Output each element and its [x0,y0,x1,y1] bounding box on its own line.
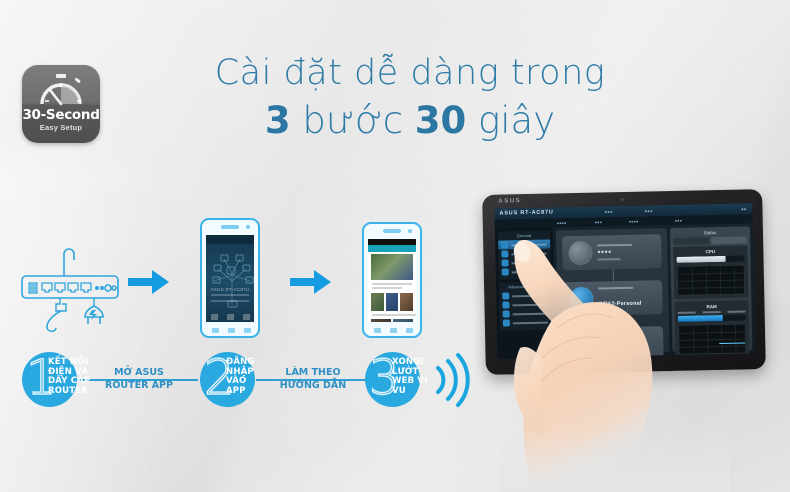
network-map-panel: ●●●● WPA2-Personal [556,228,670,354]
ram-title: RAM [677,303,745,309]
header-menu-item[interactable]: ●● [741,206,747,211]
ram-usage-bar [678,314,746,321]
subnav-item[interactable]: ●●● [675,218,682,223]
tablet-camera [621,198,624,201]
web-nav-bar [368,245,416,252]
web-thumb-row [371,293,413,311]
thirty-second-badge: 30-Second Easy Setup [22,65,100,143]
phone-nav-back [374,328,381,333]
router-status-icon [568,241,592,265]
app-status-bar [206,235,254,244]
wireless-icon [502,292,509,299]
tablet-home-button[interactable] [620,357,631,368]
header-menu-item: ●●● [644,208,652,213]
arrow-right-icon [128,268,170,301]
sidebar-item-usb[interactable] [500,318,552,328]
wireless-icon [569,287,593,311]
lock-icon [502,268,509,275]
connector-line [613,315,614,327]
headline-steps-number: 3 [265,99,291,142]
sidebar-item-parental-control[interactable] [499,267,551,277]
badge-sub-text: Easy Setup [22,123,100,132]
badge-main-text: 30-Second [22,107,100,123]
cpu-title: CPU [676,248,744,254]
phone-nav-recent [406,328,413,333]
sidebar-group-advanced: Advanced Settings [499,282,552,331]
network-map-icon [501,241,508,248]
asus-app-screen: ASUS RT-AC87U [206,235,254,322]
subnav-item[interactable]: ●●●● [557,220,567,225]
system-monitor-panel: Status CPU RAM [670,226,753,352]
app-bottom-icons [206,314,254,320]
subnav-item[interactable]: ●●●● [629,219,639,224]
phone-screen: ASUS RT-AC87U [206,235,254,322]
web-page-screen [368,239,416,322]
arrow-right-icon [290,268,332,301]
sidebar-group-title: General [498,233,550,239]
monitor-title: Status [673,229,747,236]
headline-line-2: 3 bước 30 giây [200,98,620,144]
usb-icon [503,319,510,326]
smartphone-web-illustration [362,222,422,338]
connector-label-1: MỞ ASUS ROUTER APP [104,366,174,392]
step-label-1: KẾT NỐI ĐIỆN VÀ DÂY CÁP ROUTER [48,358,90,396]
headline-line-1: Cài đặt dễ dàng trong [200,52,620,94]
asus-logo: ASUS [498,198,521,204]
app-caption: ASUS RT-AC87U [206,287,254,292]
cpu-graph [677,264,746,295]
monitor-tabs [673,236,747,245]
tab-overview[interactable] [673,237,709,245]
wireless-security-card[interactable]: WPA2-Personal [563,280,663,316]
step-label-2: ĐĂNG NHẬP VÀO APP [226,358,255,396]
lan-icon [502,301,509,308]
web-thumb-row [371,319,413,322]
connector-label-2: LÀM THEO HƯỚNG DẪN [278,366,348,392]
header-menu-item: ●●● [604,209,612,214]
cpu-panel: CPU [673,245,748,299]
wifi-waves-icon [432,352,472,413]
phone-nav-home [390,328,397,333]
router-ui-content: ●●●● WPA2-Personal [553,223,756,357]
step-label-3: XONG! LƯỚT WEB VI VU [392,358,428,396]
security-mode-label: WPA2-Personal [598,300,641,307]
smartphone-app-illustration: ASUS RT-AC87U [200,218,260,338]
ram-graph [678,323,747,354]
phone-nav-recent [244,328,251,333]
headline-steps-word: bước [291,99,415,142]
tablet-screen: ASUS RT-AC87U ●●● ●●● ●● ●●●● ●●● ●●●● ●… [494,203,755,358]
router-ui-sidebar: General [495,227,556,358]
phone-speaker [221,225,239,229]
promo-banner: 30-Second Easy Setup Cài đặt dễ dàng tro… [0,0,790,492]
router-icon [18,240,126,341]
sidebar-group-title: Advanced Settings [499,284,551,290]
phone-camera [246,225,250,229]
phone-camera [408,229,412,233]
router-ui-logo: ASUS RT-AC87U [499,209,553,216]
ram-panel: RAM [674,300,749,358]
network-status-card[interactable]: ●●●● [562,234,662,270]
app-list-lines [211,294,249,306]
clients-icon [570,333,594,357]
ram-labels [678,310,746,313]
clients-card[interactable] [564,326,664,358]
connector-line [612,269,613,281]
subnav-item[interactable]: ●●● [595,219,602,224]
guest-network-icon [501,250,508,257]
traffic-icon [502,259,509,266]
wan-icon [503,310,510,317]
web-hero-image [371,254,413,280]
tab-status[interactable] [711,236,747,244]
headline-seconds-number: 30 [415,99,467,142]
cpu-usage-bar [676,255,744,262]
phone-nav-home [228,328,235,333]
phone-nav-back [212,328,219,333]
phone-screen [368,239,416,322]
phone-speaker [383,229,401,233]
headline-seconds-word: giây [466,99,555,142]
headline: Cài đặt dễ dàng trong 3 bước 30 giây [200,52,620,144]
sidebar-group-general: General [498,231,551,280]
tablet-device: ASUS ASUS RT-AC87U ●●● ●●● ●● ●●●● ●●● ●… [482,189,766,375]
